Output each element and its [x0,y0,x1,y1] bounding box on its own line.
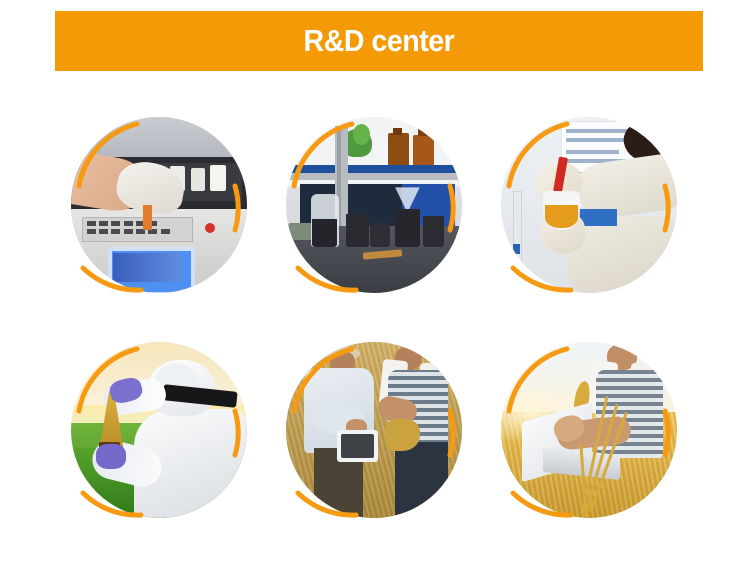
page-root: R&D center [0,0,750,561]
photo-1-artwork [71,117,247,293]
header-banner: R&D center [55,11,703,71]
photo-3-artwork [501,117,677,293]
photo-5[interactable] [286,342,462,518]
gallery-item-2[interactable] [264,100,474,310]
photo-2[interactable] [286,117,462,293]
photo-6[interactable] [501,342,677,518]
photo-3[interactable] [501,117,677,293]
photo-1[interactable] [71,117,247,293]
photo-gallery [0,88,750,558]
photo-4-artwork [71,342,247,518]
page-title: R&D center [304,23,455,59]
photo-5-artwork [286,342,462,518]
gallery-item-5[interactable] [264,325,474,535]
gallery-item-6[interactable] [479,325,689,535]
photo-2-artwork [286,117,462,293]
gallery-item-3[interactable] [479,100,689,310]
gallery-item-4[interactable] [49,325,259,535]
gallery-item-1[interactable] [49,100,259,310]
photo-6-artwork [501,342,677,518]
photo-4[interactable] [71,342,247,518]
